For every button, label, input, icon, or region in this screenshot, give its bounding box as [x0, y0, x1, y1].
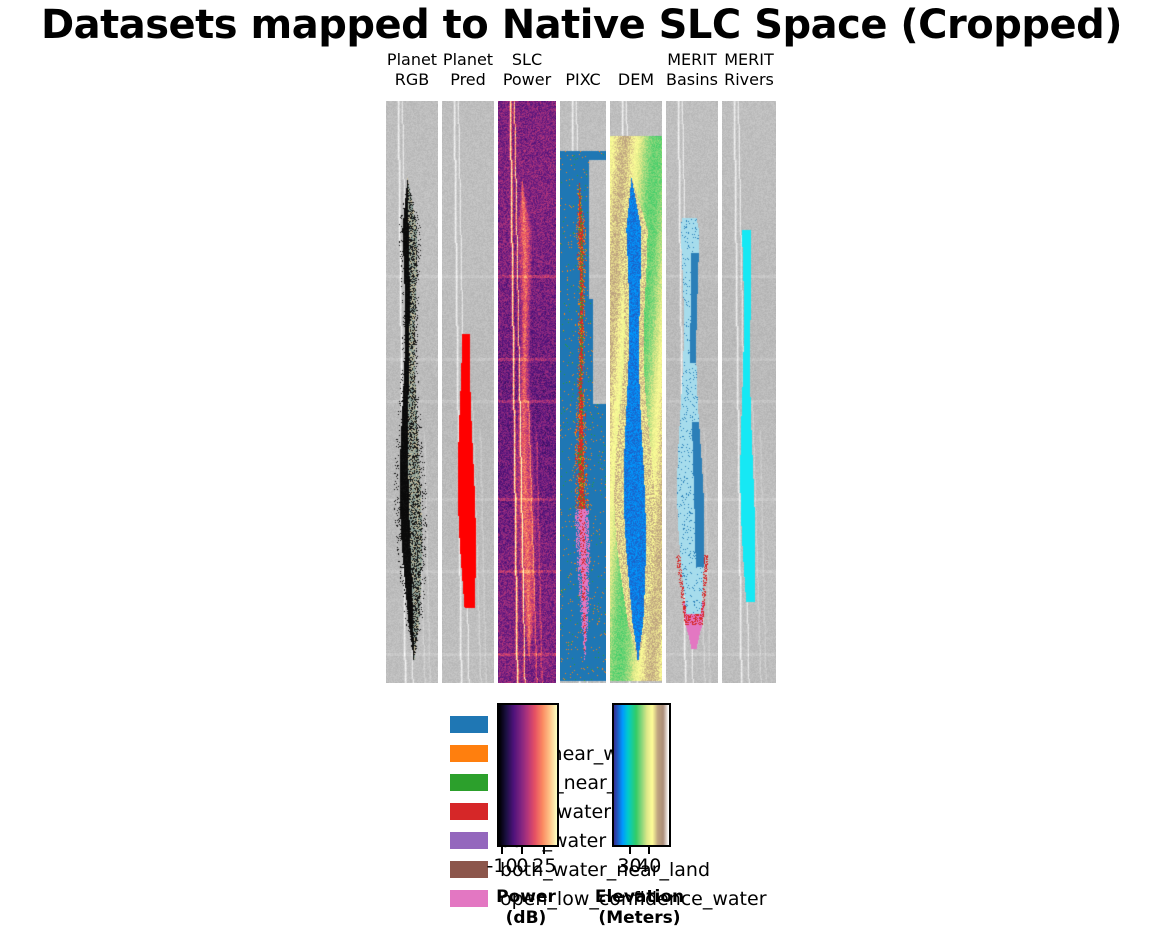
colorbar-tick-mark [648, 847, 650, 854]
colorbar-tick-label: -10 [487, 855, 518, 877]
legend-swatch-land-near-water [450, 745, 488, 762]
panel-planet-pred [442, 101, 494, 683]
colorbar-tick-mark [501, 847, 503, 854]
colorbar-tick-label: 0 [516, 855, 528, 877]
colorbar-title-power: Power (dB) [467, 887, 585, 929]
colorbar-tick-label: 40 [637, 855, 661, 877]
panel-slc-power [498, 101, 556, 683]
colorbar-tick-mark [629, 847, 631, 854]
colorbar-power [497, 703, 559, 847]
legend-swatch-both-water-near-land [450, 861, 488, 878]
panel-planet-rgb [386, 101, 438, 683]
legend-swatch-land [450, 716, 488, 733]
panel-header-merit-rivers: MERIT Rivers [710, 50, 788, 90]
colorbar-tick-mark [543, 847, 545, 854]
colorbar-title-elevation: Elevation (Meters) [582, 887, 697, 929]
legend-swatch-open-water [450, 803, 488, 820]
legend-swatch-water-near-land [450, 774, 488, 791]
panel-merit-basins [666, 101, 718, 683]
legend-swatch-dark-water [450, 832, 488, 849]
colorbar-tick-mark [521, 847, 523, 854]
panel-pixc [560, 101, 606, 683]
colorbar-tick-label: 25 [532, 855, 556, 877]
page-title: Datasets mapped to Native SLC Space (Cro… [0, 2, 1163, 48]
panel-dem [610, 101, 662, 683]
colorbar-elevation [612, 703, 671, 847]
panel-merit-rivers [722, 101, 776, 683]
